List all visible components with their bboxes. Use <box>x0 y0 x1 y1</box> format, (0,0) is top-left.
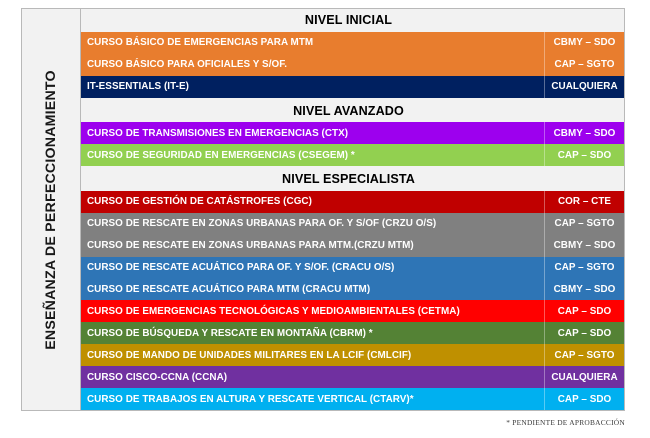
course-rank-code: CBMY – SDO <box>544 235 624 257</box>
course-rank-code: CAP – SDO <box>544 144 624 166</box>
course-rank-code: CBMY – SDO <box>544 32 624 54</box>
course-name: CURSO DE EMERGENCIAS TECNOLÓGICAS Y MEDI… <box>81 300 544 322</box>
course-name: CURSO DE RESCATE ACUÁTICO PARA MTM (CRAC… <box>81 278 544 300</box>
course-name: CURSO DE RESCATE EN ZONAS URBANAS PARA M… <box>81 235 544 257</box>
course-name: CURSO DE TRABAJOS EN ALTURA Y RESCATE VE… <box>81 388 544 410</box>
course-row[interactable]: CURSO BÁSICO PARA OFICIALES Y S/OF.CAP –… <box>81 54 624 76</box>
section-header-row: NIVEL ESPECIALISTA <box>81 168 624 191</box>
course-name: CURSO DE BÚSQUEDA Y RESCATE EN MONTAÑA (… <box>81 322 544 344</box>
training-matrix-table: ENSEÑANZA DE PERFECCIONAMIENTO NIVEL INI… <box>21 8 625 411</box>
course-name: CURSO CISCO-CCNA (CCNA) <box>81 366 544 388</box>
course-rank-code: CAP – SGTO <box>544 344 624 366</box>
course-name: CURSO DE SEGURIDAD EN EMERGENCIAS (CSEGE… <box>81 144 544 166</box>
course-row[interactable]: CURSO DE TRANSMISIONES EN EMERGENCIAS (C… <box>81 122 624 144</box>
course-row[interactable]: CURSO DE SEGURIDAD EN EMERGENCIAS (CSEGE… <box>81 144 624 166</box>
course-name: IT-ESSENTIALS (IT-E) <box>81 76 544 98</box>
course-name: CURSO DE RESCATE EN ZONAS URBANAS PARA O… <box>81 213 544 235</box>
vertical-axis-label-text: ENSEÑANZA DE PERFECCIONAMIENTO <box>43 70 59 350</box>
course-row[interactable]: CURSO DE RESCATE ACUÁTICO PARA OF. Y S/O… <box>81 257 624 279</box>
course-name: CURSO DE GESTIÓN DE CATÁSTROFES (CGC) <box>81 191 544 213</box>
matrix-body: NIVEL INICIALCURSO BÁSICO DE EMERGENCIAS… <box>81 9 624 410</box>
course-rank-code: CBMY – SDO <box>544 278 624 300</box>
course-rank-code: CAP – SDO <box>544 300 624 322</box>
course-rank-code: CAP – SGTO <box>544 54 624 76</box>
course-rank-code: CAP – SDO <box>544 322 624 344</box>
section-header-row: NIVEL AVANZADO <box>81 99 624 122</box>
course-row[interactable]: CURSO BÁSICO DE EMERGENCIAS PARA MTMCBMY… <box>81 32 624 54</box>
footnote-pending-approval: * PENDIENTE DE APROBACCIÓN <box>506 418 625 427</box>
course-name: CURSO BÁSICO DE EMERGENCIAS PARA MTM <box>81 32 544 54</box>
course-row[interactable]: CURSO DE RESCATE EN ZONAS URBANAS PARA O… <box>81 213 624 235</box>
course-row[interactable]: CURSO DE BÚSQUEDA Y RESCATE EN MONTAÑA (… <box>81 322 624 344</box>
course-row[interactable]: CURSO CISCO-CCNA (CCNA)CUALQUIERA <box>81 366 624 388</box>
course-name: CURSO BÁSICO PARA OFICIALES Y S/OF. <box>81 54 544 76</box>
course-rank-code: CAP – SGTO <box>544 213 624 235</box>
course-row[interactable]: CURSO DE RESCATE EN ZONAS URBANAS PARA M… <box>81 235 624 257</box>
section-header-row: NIVEL INICIAL <box>81 9 624 32</box>
section-title: NIVEL AVANZADO <box>81 99 624 122</box>
course-matrix-page: ENSEÑANZA DE PERFECCIONAMIENTO NIVEL INI… <box>0 0 650 438</box>
course-row[interactable]: IT-ESSENTIALS (IT-E)CUALQUIERA <box>81 76 624 98</box>
course-rank-code: CAP – SDO <box>544 388 624 410</box>
course-row[interactable]: CURSO DE EMERGENCIAS TECNOLÓGICAS Y MEDI… <box>81 300 624 322</box>
section-title: NIVEL INICIAL <box>81 9 624 32</box>
course-rank-code: CUALQUIERA <box>544 76 624 98</box>
course-row[interactable]: CURSO DE TRABAJOS EN ALTURA Y RESCATE VE… <box>81 388 624 410</box>
vertical-axis-label: ENSEÑANZA DE PERFECCIONAMIENTO <box>22 9 81 410</box>
course-rank-code: COR – CTE <box>544 191 624 213</box>
section-title: NIVEL ESPECIALISTA <box>81 168 624 191</box>
course-rank-code: CUALQUIERA <box>544 366 624 388</box>
course-row[interactable]: CURSO DE GESTIÓN DE CATÁSTROFES (CGC)COR… <box>81 191 624 213</box>
course-rank-code: CAP – SGTO <box>544 257 624 279</box>
course-row[interactable]: CURSO DE RESCATE ACUÁTICO PARA MTM (CRAC… <box>81 278 624 300</box>
course-rank-code: CBMY – SDO <box>544 122 624 144</box>
course-name: CURSO DE TRANSMISIONES EN EMERGENCIAS (C… <box>81 122 544 144</box>
course-name: CURSO DE MANDO DE UNIDADES MILITARES EN … <box>81 344 544 366</box>
course-row[interactable]: CURSO DE MANDO DE UNIDADES MILITARES EN … <box>81 344 624 366</box>
course-name: CURSO DE RESCATE ACUÁTICO PARA OF. Y S/O… <box>81 257 544 279</box>
